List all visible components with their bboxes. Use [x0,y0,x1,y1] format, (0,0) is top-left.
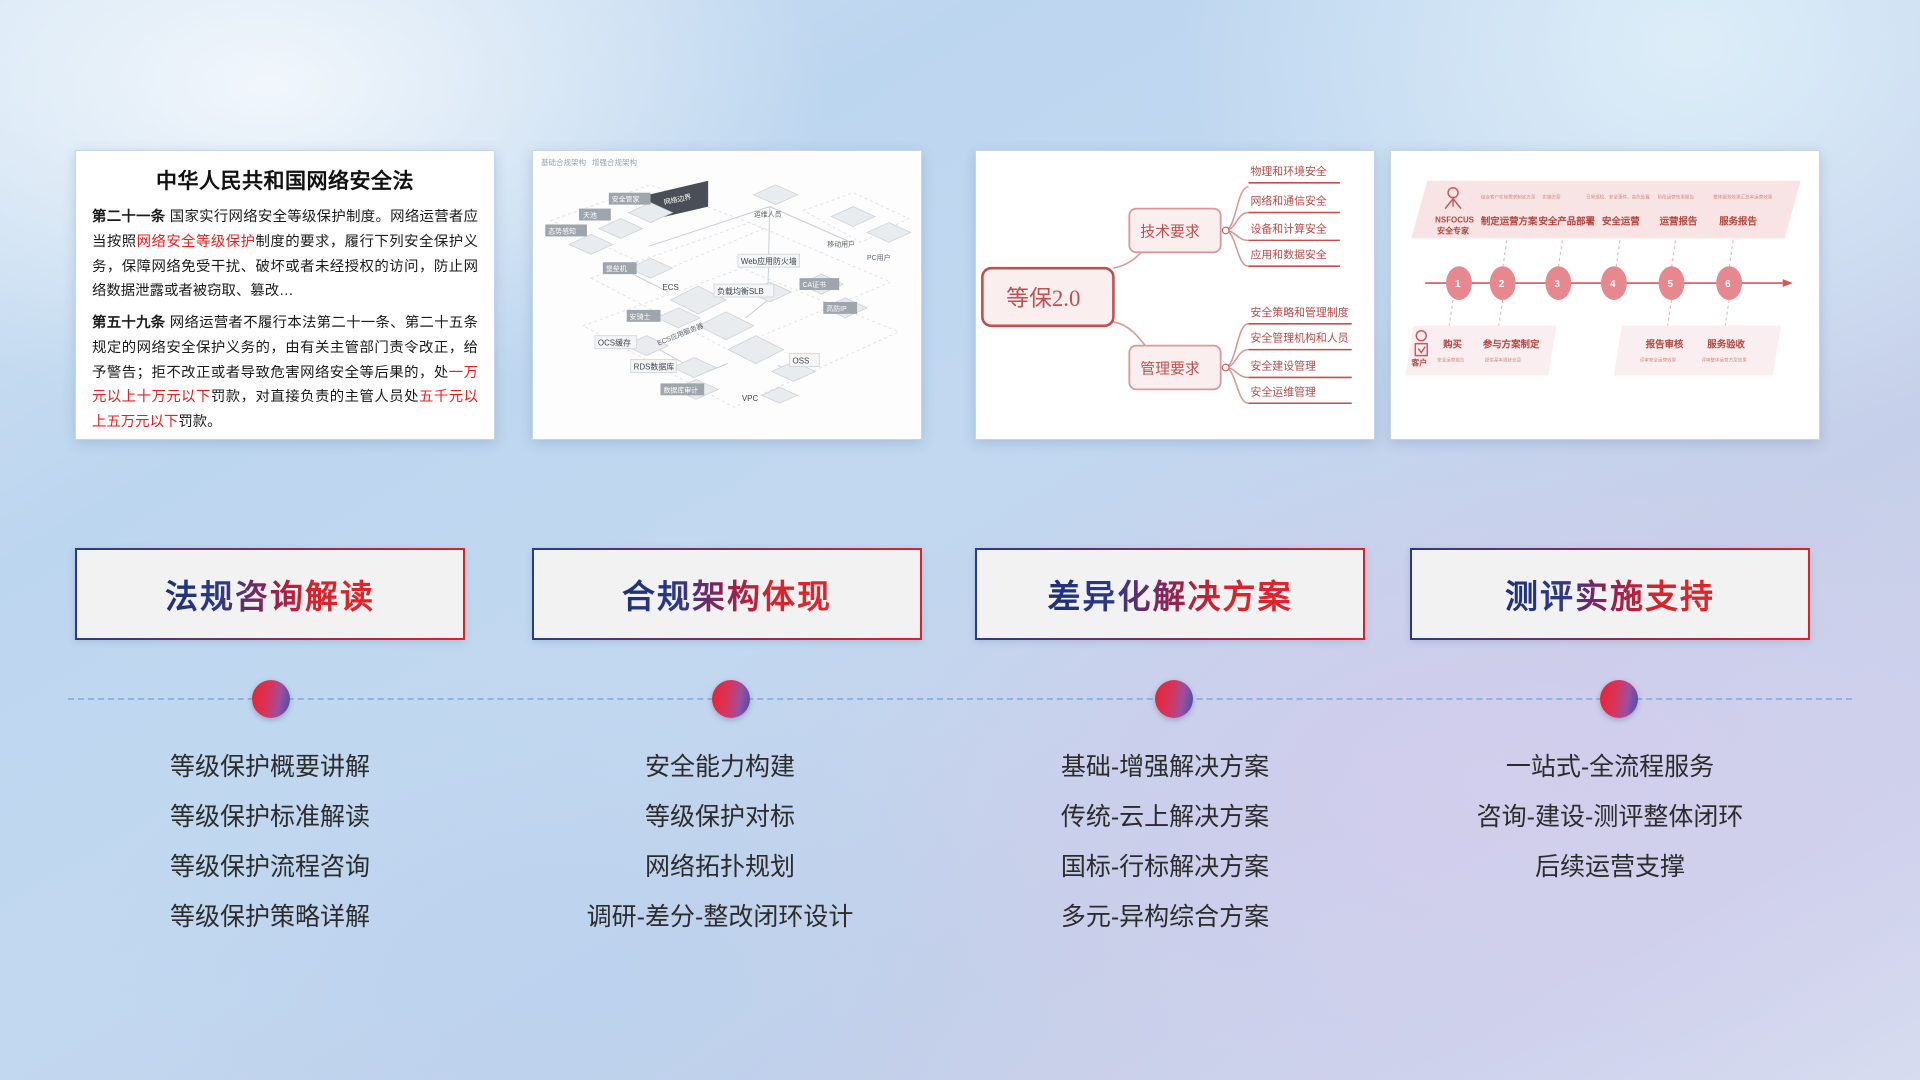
section-title-1: 法规咨询解读 [165,570,375,618]
timeline-dot-2[interactable] [712,680,750,718]
node-label-ocs-cache: OCS缓存 [598,338,631,348]
law-text-59c: 罚款。 [178,414,221,430]
step-number-3: 3 [1554,279,1560,290]
bottom-step-5-sub: 评审安全运营效果 [1640,357,1677,364]
process-axis-arrow [1783,279,1793,287]
timeline-dot-3[interactable] [1155,680,1193,718]
step-number-6: 6 [1725,279,1731,290]
node-label-security-butler: 安全管家 [612,195,640,204]
law-document: 中华人民共和国网络安全法 第二十一条 国家实行网络安全等级保护制度。网络运营者应… [76,151,494,440]
mindmap-leaf-construction: 安全建设管理 [1250,358,1316,372]
list-item: 咨询-建设-测评整体闭环 [1390,792,1830,842]
mindmap-leaf-device: 设备和计算安全 [1250,221,1326,235]
top-step-5-sub: 阶段运营效果报告 [1658,194,1695,201]
customer-role-label: 客户 [1410,358,1427,368]
node-label-pc-user: PC用户 [867,253,891,262]
law-title: 中华人民共和国网络安全法 [92,165,478,195]
list-item: 等级保护概要讲解 [50,742,490,792]
node-label-ops-staff: 运维人员 [754,210,782,219]
top-step-3-sub: 实施方案 [1542,194,1561,201]
top-step-2-label: 制定运营方案 [1481,215,1538,226]
bottom-step-2-sub: 提供基本现状信息 [1485,357,1522,364]
law-highlight-21: 网络安全等级保护 [137,234,256,250]
bottom-step-6-sub: 评审整体运营方案效果 [1701,357,1747,364]
top-step-3-label: 安全产品部署 [1538,215,1595,226]
list-item: 等级保护流程咨询 [50,842,490,892]
process-diagram: 1 2 3 4 5 6 NSFOCUS 安全专家 结合客户实际需求制定方案 制定… [1391,151,1819,439]
timeline-dot-1[interactable] [252,680,290,718]
node-label-ecs: ECS [662,283,678,292]
bottom-step-1-sub: 安全运营报告 [1437,357,1465,364]
node-label-rds-database: RDS数据库 [634,361,675,371]
mindmap-leaf-physical: 物理和环境安全 [1250,164,1326,178]
node-label-bastion-host: 堡垒机 [606,264,627,273]
feature-list-1: 等级保护概要讲解 等级保护标准解读 等级保护流程咨询 等级保护策略详解 [50,742,490,942]
node-label-situational-awareness: 态势感知 [548,226,576,235]
law-text-59b: 罚款，对直接负责的主管人员处 [211,389,419,405]
expert-role-line1: NSFOCUS [1435,216,1474,225]
preview-card-architecture: 基础合规架构 增强合规架构 [532,150,922,440]
top-step-5-label: 运营报告 [1660,215,1698,226]
list-item: 网络拓扑规划 [500,842,940,892]
node-label-slb: 负载均衡SLB [717,286,764,296]
article-number-21: 第二十一条 [92,209,165,225]
customer-lane-right [1614,326,1781,376]
section-title-box-4[interactable]: 测评实施支持 [1410,548,1810,640]
mindmap-leaf-operation: 安全运维管理 [1250,384,1316,398]
law-article-59: 第五十九条 网络运营者不履行本法第二十一条、第二十五条规定的网络安全保护义务的，… [92,311,478,435]
feature-list-4: 一站式-全流程服务 咨询-建设-测评整体闭环 后续运营支撑 [1390,742,1830,892]
list-item: 等级保护对标 [500,792,940,842]
node-label-vpc: VPC [742,394,759,403]
top-step-6-sub: 整体服务效果汇总本运营效果 [1713,194,1773,201]
top-step-2-sub: 结合客户实际需求制定方案 [1481,194,1536,201]
mindmap-leaf-policy: 安全策略和管理制度 [1250,305,1348,319]
node-label-anqishi: 安骑士 [630,312,651,321]
step-number-5: 5 [1668,279,1674,290]
preview-card-process: 1 2 3 4 5 6 NSFOCUS 安全专家 结合客户实际需求制定方案 制定… [1390,150,1820,440]
architecture-canvas: 网络边界 [533,151,921,439]
slide-canvas: 中华人民共和国网络安全法 第二十一条 国家实行网络安全等级保护制度。网络运营者应… [0,0,1920,1080]
section-title-box-1[interactable]: 法规咨询解读 [75,548,465,640]
expert-lane [1411,181,1800,239]
step-number-4: 4 [1610,279,1616,290]
mindmap-root-label: 等保2.0 [1006,286,1080,311]
mindmap-leaf-network: 网络和通信安全 [1250,194,1326,208]
list-item: 传统-云上解决方案 [945,792,1385,842]
node-label-ca-certificate: CA证书 [802,280,826,289]
list-item: 等级保护标准解读 [50,792,490,842]
preview-card-law: 中华人民共和国网络安全法 第二十一条 国家实行网络安全等级保护制度。网络运营者应… [75,150,495,440]
top-step-4-label: 安全运营 [1602,215,1640,226]
section-title-box-2[interactable]: 合规架构体现 [532,548,922,640]
bottom-step-6-label: 服务验收 [1707,339,1745,350]
list-item: 安全能力构建 [500,742,940,792]
section-title-2: 合规架构体现 [622,570,832,618]
list-item: 调研-差分-整改闭环设计 [500,892,940,942]
section-title-3: 差异化解决方案 [1048,570,1293,618]
section-title-4: 测评实施支持 [1505,570,1715,618]
node-label-waf: Web应用防火墙 [741,256,797,266]
law-article-21: 第二十一条 国家实行网络安全等级保护制度。网络运营者应当按照网络安全等级保护制度… [92,205,478,304]
node-label-anti-ddos-ip: 高防IP [826,304,847,313]
mindmap-collapse-toggle-technical[interactable] [1222,227,1229,234]
timeline-dashed-line [68,698,1852,700]
step-number-1: 1 [1455,279,1461,290]
node-label-database-audit: 数据库审计 [663,385,698,394]
node-label-oss: OSS [793,357,810,366]
architecture-diagram: 基础合规架构 增强合规架构 [533,151,921,439]
process-canvas: 1 2 3 4 5 6 NSFOCUS 安全专家 结合客户实际需求制定方案 制定… [1391,151,1819,439]
node-label-mobile-user: 移动用户 [827,239,855,248]
bottom-step-1-label: 购买 [1443,339,1462,350]
list-item: 多元-异构综合方案 [945,892,1385,942]
list-item: 等级保护策略详解 [50,892,490,942]
mindmap-diagram: 等保2.0 技术要求 物理和环境安全 网络和通信安全 设备和计算安全 应用和数据… [976,151,1374,439]
step-number-2: 2 [1499,279,1505,290]
feature-list-2: 安全能力构建 等级保护对标 网络拓扑规划 调研-差分-整改闭环设计 [500,742,940,942]
top-step-6-label: 服务报告 [1719,215,1757,226]
list-item: 基础-增强解决方案 [945,742,1385,792]
section-title-box-3[interactable]: 差异化解决方案 [975,548,1365,640]
timeline-dot-4[interactable] [1600,680,1638,718]
mindmap-canvas: 等保2.0 技术要求 物理和环境安全 网络和通信安全 设备和计算安全 应用和数据… [976,151,1374,439]
list-item: 国标-行标解决方案 [945,842,1385,892]
mindmap-collapse-toggle-management[interactable] [1222,364,1229,371]
mindmap-leaf-org: 安全管理机构和人员 [1250,331,1348,345]
list-item: 一站式-全流程服务 [1390,742,1830,792]
preview-card-mindmap: 等保2.0 技术要求 物理和环境安全 网络和通信安全 设备和计算安全 应用和数据… [975,150,1375,440]
bottom-step-2-label: 参与方案制定 [1483,339,1540,350]
top-step-4-sub: 日常巡检、安全事件、高危处置 [1586,194,1650,201]
bottom-step-5-label: 报告审核 [1646,339,1684,350]
article-number-59: 第五十九条 [92,315,165,331]
list-item: 后续运营支撑 [1390,842,1830,892]
mindmap-branch-management-label: 管理要求 [1140,360,1200,377]
node-label-tianchi: 天池 [583,211,597,220]
customer-lane-left [1405,326,1556,376]
mindmap-leaf-application: 应用和数据安全 [1250,247,1326,261]
feature-list-3: 基础-增强解决方案 传统-云上解决方案 国标-行标解决方案 多元-异构综合方案 [945,742,1385,942]
mindmap-branch-technical-label: 技术要求 [1140,223,1200,240]
expert-role-line2: 安全专家 [1437,225,1469,235]
